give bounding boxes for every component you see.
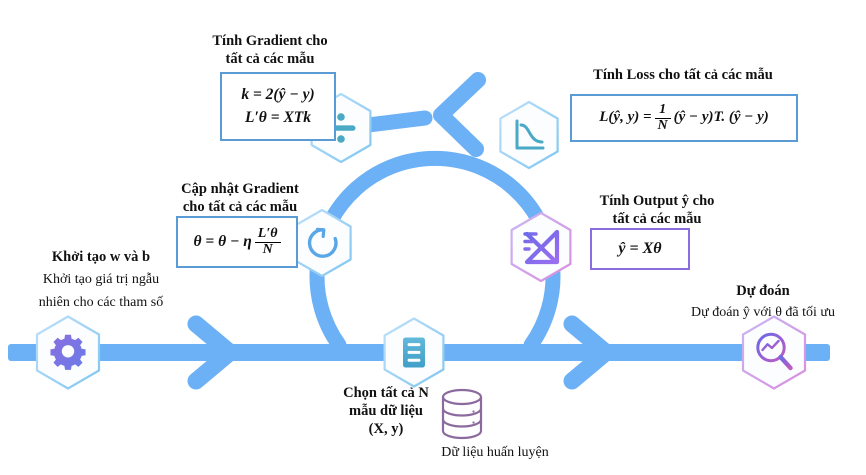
label-gradient: Tính Gradient cho tất cả các mẫu [185,32,355,68]
predict-subtitle: Dự đoán ŷ với θ đã tối ưu [660,304,866,322]
predict-heading: Dự đoán [660,282,866,300]
select-data-line2: mẫu dữ liệu [310,402,462,420]
loss-frac-denominator: N [655,119,671,134]
loss-formula-lhs: L(ŷ, y) = [599,107,651,129]
select-data-line1: Chọn tất cả N [310,384,462,402]
update-formula-lhs: θ = θ − η [193,231,251,253]
formula-box-output: ŷ = Xθ [590,228,690,270]
select-data-line3: (X, y) [310,420,462,438]
loss-formula-rhs: (ŷ − y)T. (ŷ − y) [674,107,769,129]
gradient-heading-line1: Tính Gradient cho [185,32,355,50]
hexagon-shape [293,210,350,276]
hex-node-update[interactable] [293,210,350,276]
hexagon-shape [500,102,557,168]
output-heading-line2: tất cả các mẫu [572,210,742,228]
label-init: Khởi tạo w và b Khởi tạo giá trị ngẫu nh… [6,248,196,311]
loss-frac-numerator: 1 [655,103,671,119]
init-line2: nhiên cho các tham số [6,294,196,312]
gradient-heading-line2: tất cả các mẫu [185,50,355,68]
gradient-formula-line1: k = 2(ŷ − y) [241,84,314,106]
loss-formula-fraction: 1 N [655,103,671,133]
update-frac-denominator: N [255,243,281,258]
cycle-top-stub [368,118,425,125]
gear-icon [50,335,85,370]
loss-heading: Tính Loss cho tất cả các mẫu [570,66,796,84]
document-lines-icon [403,338,425,368]
label-loss: Tính Loss cho tất cả các mẫu [570,66,796,84]
output-heading-line1: Tính Output ŷ cho [572,192,742,210]
update-formula-fraction: L′θ N [255,227,281,257]
update-heading-line1: Cập nhật Gradient [150,180,330,198]
gradient-formula-line2: L′θ = XTk [245,107,311,129]
update-frac-numerator: L′θ [255,227,281,243]
init-line1: Khởi tạo giá trị ngẫu [6,271,196,289]
label-update: Cập nhật Gradient cho tất cả các mẫu [150,180,330,216]
label-training-dataset: Dữ liệu huấn luyện [380,444,610,462]
label-output: Tính Output ŷ cho tất cả các mẫu [572,192,742,228]
hex-node-predict[interactable] [743,317,805,389]
hex-node-init[interactable] [37,317,99,389]
label-select-data: Chọn tất cả N mẫu dữ liệu (X, y) [310,384,462,438]
output-formula: ŷ = Xθ [618,237,661,260]
diagram-canvas: Tính Gradient cho tất cả các mẫu k = 2(ŷ… [0,0,866,475]
cycle-arrowhead-left [441,80,478,149]
hexagon-shape [743,317,805,389]
hex-node-select-data[interactable] [385,319,444,387]
init-heading: Khởi tạo w và b [6,248,196,266]
label-predict: Dự đoán Dự đoán ŷ với θ đã tối ưu [660,282,866,322]
update-heading-line2: cho tất cả các mẫu [150,198,330,216]
hex-node-output[interactable] [512,213,571,281]
formula-box-gradient: k = 2(ŷ − y) L′θ = XTk [220,72,336,141]
hex-node-loss[interactable] [500,102,557,168]
formula-box-loss: L(ŷ, y) = 1 N (ŷ − y)T. (ŷ − y) [570,94,798,142]
dataset-label: Dữ liệu huấn luyện [380,444,610,462]
